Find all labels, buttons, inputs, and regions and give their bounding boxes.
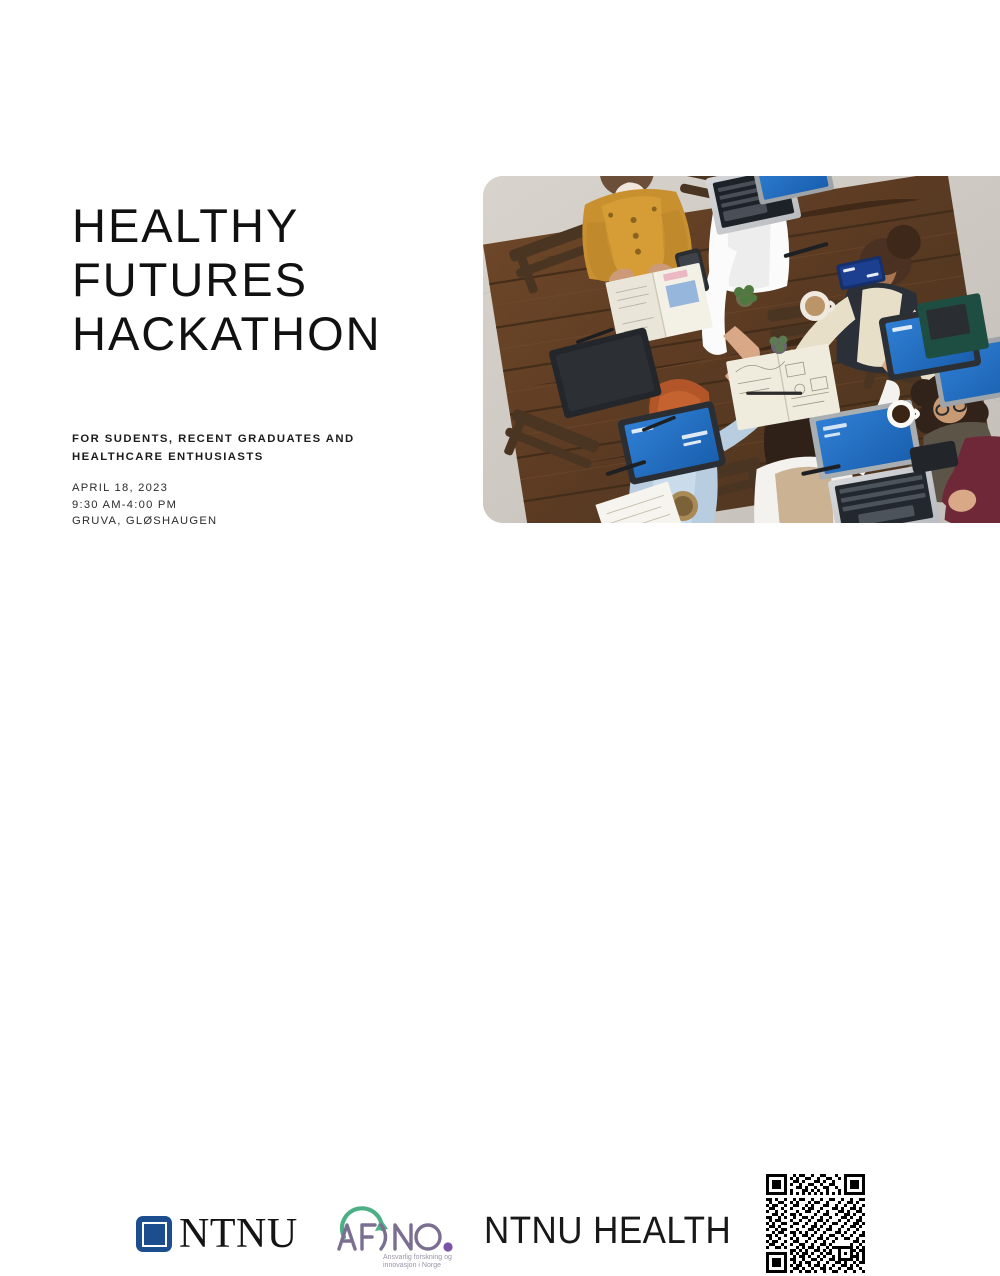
event-time: 9:30 AM-4:00 PM <box>72 497 217 514</box>
logo-ntnu: NTNU <box>136 1213 298 1255</box>
ntnu-mark-square <box>142 1222 167 1247</box>
headline-line-1: HEALTHY <box>72 199 472 253</box>
hackathon-team-photo <box>483 176 1000 523</box>
event-venue: GRUVA, GLØSHAUGEN <box>72 513 217 530</box>
afino-tagline-line-1: Ansvarlig forskning og <box>383 1254 452 1261</box>
headline-line-2: FUTURES <box>72 253 472 307</box>
qr-code[interactable] <box>766 1174 865 1273</box>
headline-line-3: HACKATHON <box>72 307 472 361</box>
ntnu-mark-icon <box>136 1216 172 1252</box>
event-details: APRIL 18, 2023 9:30 AM-4:00 PM GRUVA, GL… <box>72 480 217 530</box>
afino-tagline-line-2: innovasjon i Norge <box>383 1262 441 1269</box>
audience-subtitle: FOR SUDENTS, RECENT GRADUATES AND HEALTH… <box>72 430 472 466</box>
page-title: HEALTHY FUTURES HACKATHON <box>72 199 472 361</box>
sponsor-logo-row: NTNU <box>0 585 1000 695</box>
event-date: APRIL 18, 2023 <box>72 480 217 497</box>
ntnu-health-wordmark: NTNU HEALTH <box>484 1212 731 1250</box>
afino-period-dot <box>443 1242 452 1251</box>
poster-canvas: HEALTHY FUTURES HACKATHON FOR SUDENTS, R… <box>0 0 1000 750</box>
ntnu-wordmark: NTNU <box>179 1213 298 1255</box>
ntnu-mark-dot <box>149 1229 160 1240</box>
logo-afino: Ansvarlig forskning og innovasjon i Norg… <box>335 1197 460 1271</box>
subtitle-line-2: HEALTHCARE ENTHUSIASTS <box>72 448 472 466</box>
subtitle-line-1: FOR SUDENTS, RECENT GRADUATES AND <box>72 430 472 448</box>
